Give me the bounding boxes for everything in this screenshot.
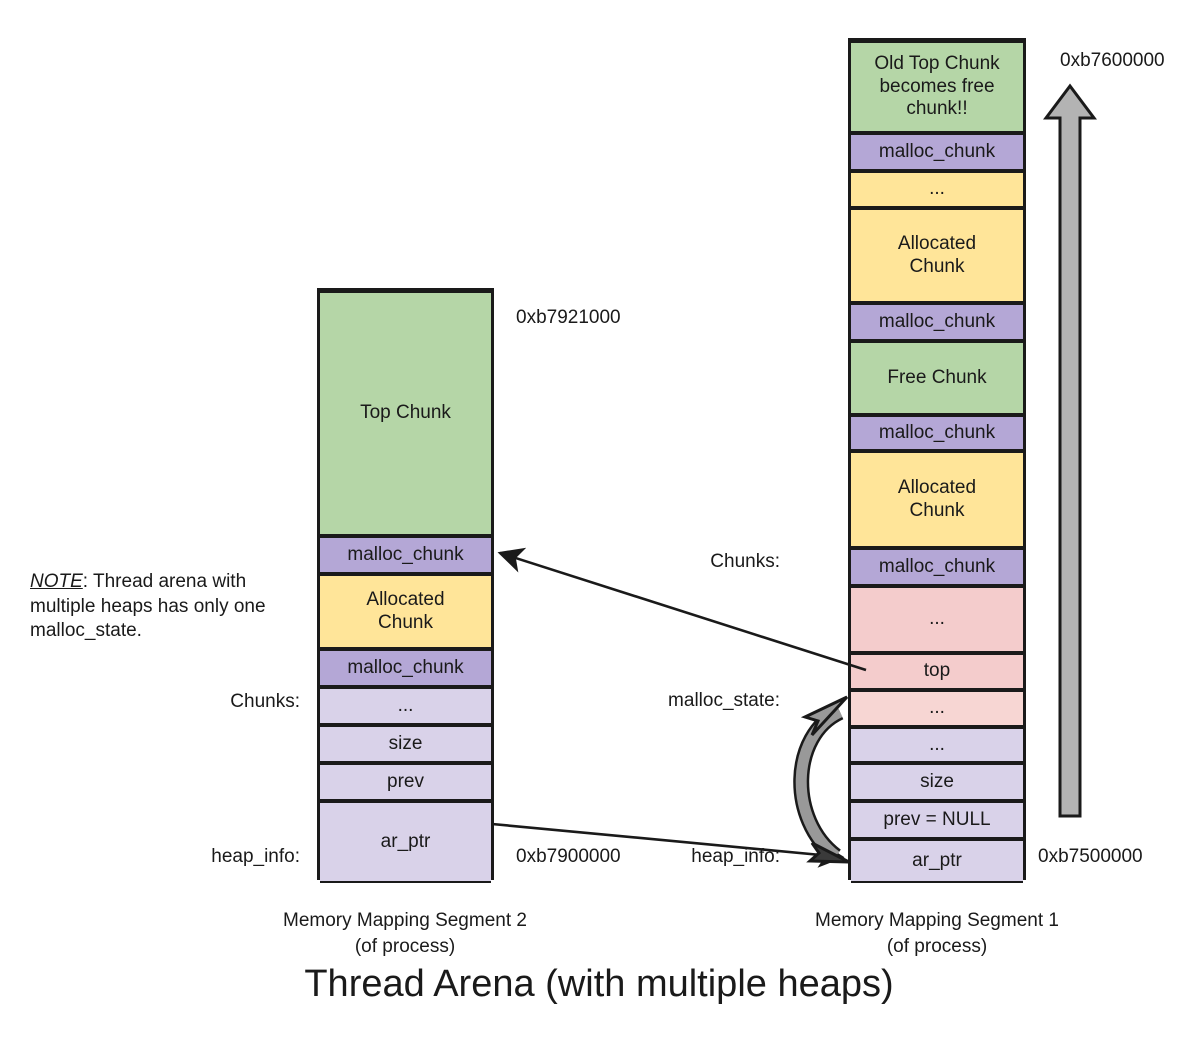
segment2-row[interactable]: malloc_chunk	[320, 536, 491, 574]
segment1-row-label: size	[920, 771, 954, 793]
segment1-row[interactable]: ...	[851, 690, 1023, 727]
segment1-row[interactable]: Free Chunk	[851, 341, 1023, 415]
segment1-row-label: Allocated Chunk	[898, 477, 976, 522]
segment1-row[interactable]: prev = NULL	[851, 801, 1023, 839]
segment1-row[interactable]: ...	[851, 727, 1023, 763]
segment1-heap-info-label: heap_info:	[580, 846, 780, 868]
segment2-row[interactable]: ...	[320, 687, 491, 725]
segment1-chunks-label: Chunks:	[580, 551, 780, 573]
segment2-row[interactable]: ar_ptr	[320, 801, 491, 883]
segment1-row-label: ar_ptr	[912, 850, 962, 872]
segment2-heap-info-label: heap_info:	[100, 846, 300, 868]
segment1-row-label: Old Top Chunk becomes free chunk!!	[874, 53, 999, 120]
segment2-row[interactable]: Top Chunk	[320, 291, 491, 536]
ar-ptr-to-malloc-state-arrow	[801, 697, 849, 862]
segment1-row-label: ...	[929, 178, 945, 200]
segment1-row-label: Allocated Chunk	[898, 233, 976, 278]
segment1-row-label: ...	[929, 608, 945, 630]
heap-growth-arrow	[1046, 86, 1094, 816]
segment2-caption-line1: Memory Mapping Segment 2	[245, 908, 565, 934]
segment1-row[interactable]: malloc_chunk	[851, 133, 1023, 171]
segment1-top-address: 0xb7600000	[1060, 50, 1165, 72]
segment2-row-label: ...	[398, 695, 414, 717]
segment2-top-address: 0xb7921000	[516, 307, 621, 329]
segment2-caption-line2: (of process)	[245, 934, 565, 960]
segment1-row[interactable]: Old Top Chunk becomes free chunk!!	[851, 41, 1023, 133]
segment1-caption-line1: Memory Mapping Segment 1	[777, 908, 1097, 934]
segment1-row[interactable]: ...	[851, 586, 1023, 653]
segment2-row-label: ar_ptr	[381, 831, 431, 853]
segment1-caption: Memory Mapping Segment 1 (of process)	[777, 908, 1097, 959]
diagram-title: Thread Arena (with multiple heaps)	[0, 963, 1198, 1006]
segment2-row-label: size	[389, 733, 423, 755]
diagram-canvas: Top Chunkmalloc_chunkAllocated Chunkmall…	[0, 0, 1198, 1042]
segment2-row[interactable]: Allocated Chunk	[320, 574, 491, 649]
segment2-row[interactable]: prev	[320, 763, 491, 801]
segment2-row[interactable]: malloc_chunk	[320, 649, 491, 687]
segment1-row[interactable]: size	[851, 763, 1023, 801]
segment2-row-label: malloc_chunk	[347, 544, 463, 566]
segment1-row[interactable]: ar_ptr	[851, 839, 1023, 883]
segment1-row[interactable]: top	[851, 653, 1023, 690]
segment1-row-label: top	[924, 660, 950, 682]
segment2-row-label: Top Chunk	[360, 402, 451, 424]
note-text: NOTE: Thread arena with multiple heaps h…	[30, 570, 295, 644]
segment2-row-label: Allocated Chunk	[366, 589, 444, 634]
segment1-row[interactable]: Allocated Chunk	[851, 451, 1023, 548]
segment1-row-label: ...	[929, 734, 945, 756]
memory-segment-1-column: Old Top Chunk becomes free chunk!!malloc…	[848, 38, 1026, 880]
segment1-row[interactable]: Allocated Chunk	[851, 208, 1023, 303]
segment1-row-label: malloc_chunk	[879, 422, 995, 444]
segment1-row[interactable]: malloc_chunk	[851, 548, 1023, 586]
segment1-row-label: prev = NULL	[883, 809, 990, 831]
segment2-chunks-label: Chunks:	[100, 691, 300, 713]
segment1-bottom-address: 0xb7500000	[1038, 846, 1143, 868]
memory-segment-2-column: Top Chunkmalloc_chunkAllocated Chunkmall…	[317, 288, 494, 880]
segment1-row-label: Free Chunk	[887, 367, 986, 389]
segment1-row[interactable]: malloc_chunk	[851, 415, 1023, 451]
segment1-row[interactable]: ...	[851, 171, 1023, 208]
note-prefix: NOTE	[30, 571, 83, 592]
segment1-row-label: malloc_chunk	[879, 141, 995, 163]
segment2-row-label: malloc_chunk	[347, 657, 463, 679]
segment2-row[interactable]: size	[320, 725, 491, 763]
segment1-caption-line2: (of process)	[777, 934, 1097, 960]
segment1-row-label: malloc_chunk	[879, 556, 995, 578]
segment2-row-label: prev	[387, 771, 424, 793]
segment1-row-label: ...	[929, 697, 945, 719]
segment1-row[interactable]: malloc_chunk	[851, 303, 1023, 341]
segment2-caption: Memory Mapping Segment 2 (of process)	[245, 908, 565, 959]
segment1-row-label: malloc_chunk	[879, 311, 995, 333]
segment1-malloc-state-label: malloc_state:	[580, 690, 780, 712]
